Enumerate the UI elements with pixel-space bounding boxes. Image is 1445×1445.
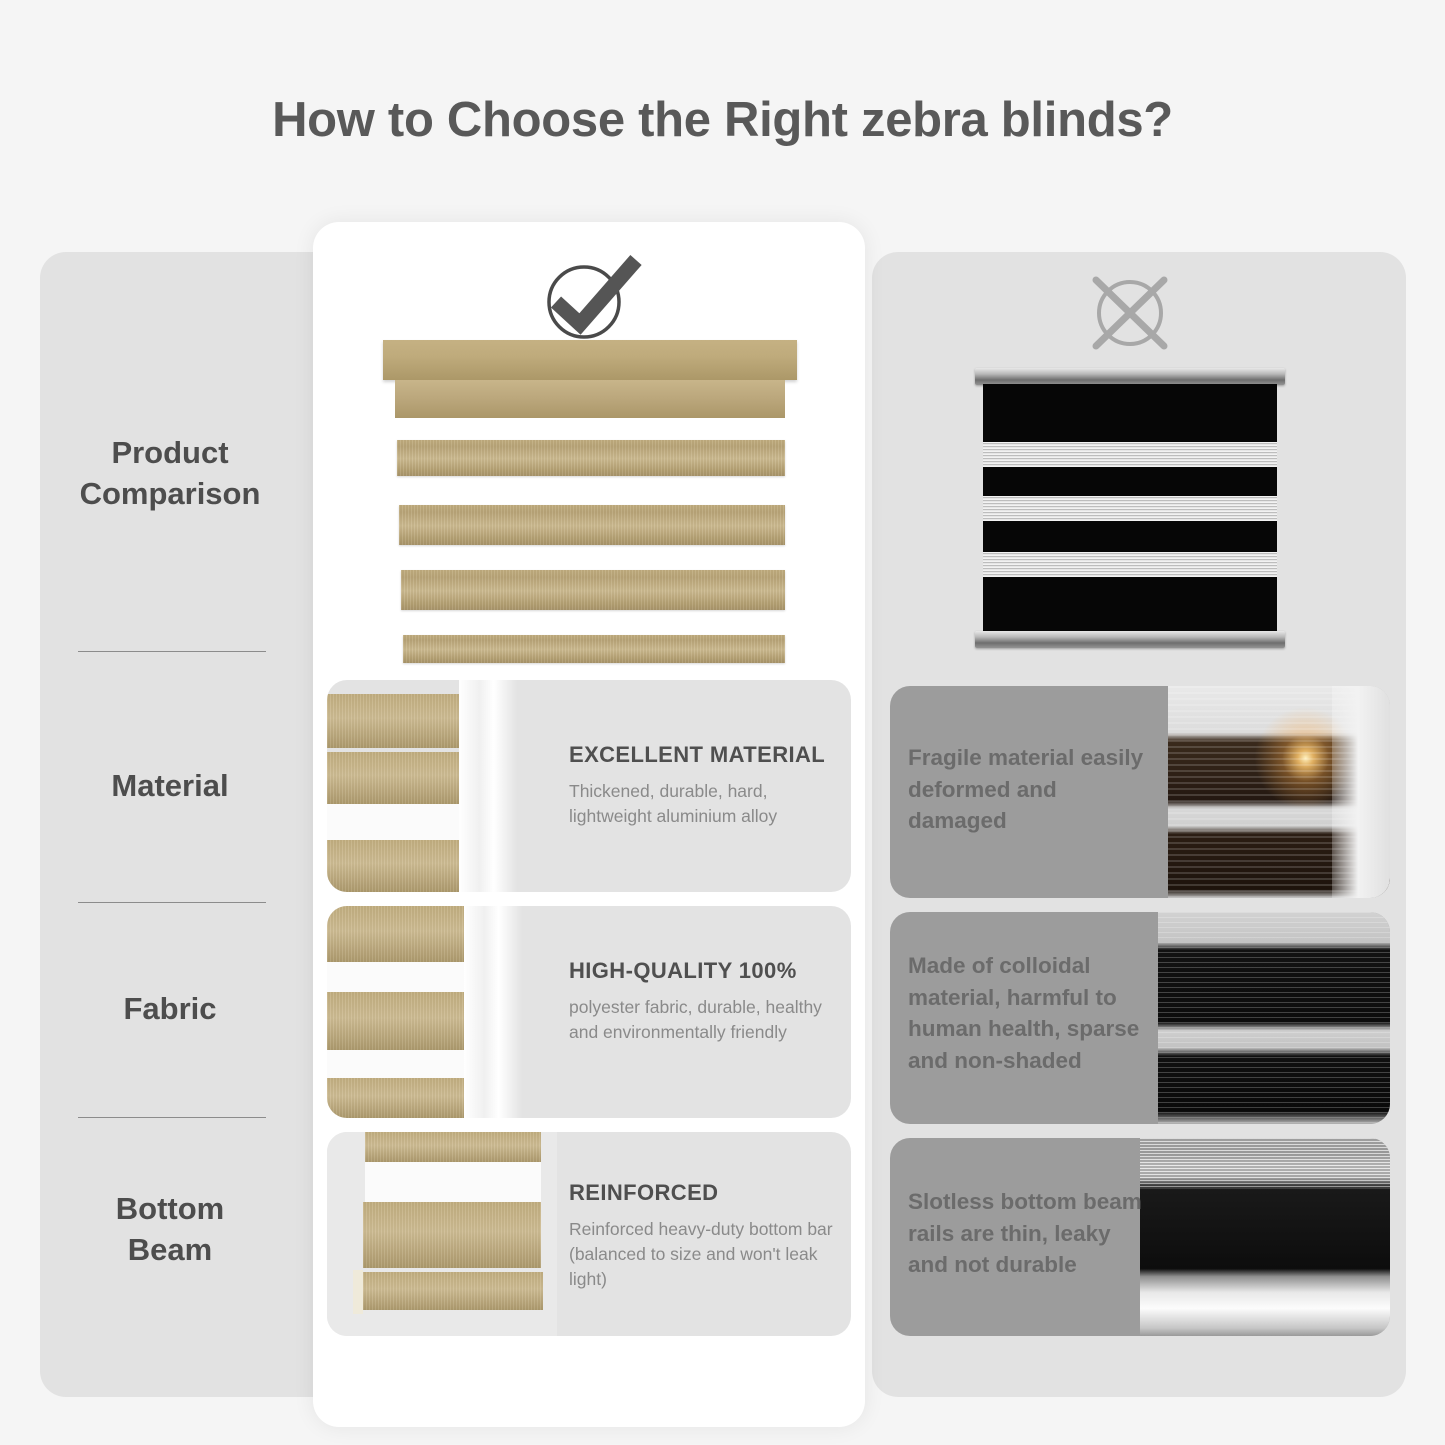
- feature-headline: Slotless bottom beam rails are thin, lea…: [908, 1186, 1156, 1281]
- photo-slat: [327, 752, 479, 804]
- photo-sheer-gap: [327, 804, 481, 840]
- check-circle-icon: [536, 252, 646, 344]
- row-label-line: Comparison: [55, 473, 285, 514]
- photo-slat: [365, 1132, 541, 1162]
- page-title: How to Choose the Right zebra blinds?: [0, 92, 1445, 148]
- feature-title: EXCELLENT MATERIAL: [569, 742, 831, 768]
- bad-feature-card-fabric: Made of colloidal material, harmful to h…: [890, 912, 1390, 1124]
- window-frame: [459, 680, 517, 892]
- photo-sheer-gap: [327, 1050, 485, 1078]
- row-label-bottom-beam: Bottom Beam: [55, 1188, 285, 1270]
- row-divider: [78, 902, 266, 903]
- good-feature-text-material: EXCELLENT MATERIAL Thickened, durable, h…: [569, 742, 831, 829]
- blind-fabric-body: [983, 384, 1277, 633]
- feature-headline: Fragile material easily deformed and dam…: [908, 742, 1158, 837]
- bad-feature-text-fabric: Made of colloidal material, harmful to h…: [908, 950, 1160, 1076]
- blind-headrail-body: [395, 380, 785, 418]
- good-feature-text-fabric: HIGH-QUALITY 100% polyester fabric, dura…: [569, 958, 841, 1045]
- photo-bottom-bar-endcap: [353, 1270, 363, 1314]
- bad-feature-card-bottom-beam: Slotless bottom beam rails are thin, lea…: [890, 1138, 1390, 1336]
- good-feature-card-fabric: HIGH-QUALITY 100% polyester fabric, dura…: [327, 906, 851, 1118]
- row-label-material: Material: [55, 765, 285, 806]
- photo-sheer-gap: [327, 962, 485, 992]
- blind-slat: [397, 440, 785, 476]
- beige-zebra-blind-closeup-photo: [327, 680, 517, 892]
- bad-feature-text-bottom-beam: Slotless bottom beam rails are thin, lea…: [908, 1186, 1156, 1281]
- blind-bottom-bar: [403, 635, 785, 663]
- beige-zebra-blind-fabric-photo: [327, 906, 522, 1118]
- feature-description: Reinforced heavy-duty bottom bar (balanc…: [569, 1217, 849, 1292]
- row-label-line: Product: [55, 432, 285, 473]
- blind-sheer-stripe: [983, 442, 1277, 467]
- photo-slat: [327, 992, 485, 1050]
- blind-bottom-rail: [975, 631, 1285, 648]
- photo-bottom-bar: [357, 1272, 543, 1310]
- window-frame: [464, 906, 522, 1118]
- feature-description: Thickened, durable, hard, lightweight al…: [569, 779, 831, 829]
- blind-sheer-stripe: [983, 552, 1277, 577]
- beige-bottom-beam-photo: [327, 1132, 557, 1336]
- beige-zebra-blind-product-image: [383, 340, 797, 670]
- black-blind-sparse-fabric-photo: [1158, 912, 1390, 1124]
- blind-slat: [399, 505, 785, 545]
- row-divider: [78, 651, 266, 652]
- good-feature-card-material: EXCELLENT MATERIAL Thickened, durable, h…: [327, 680, 851, 892]
- good-feature-card-bottom-beam: REINFORCED Reinforced heavy-duty bottom …: [327, 1132, 851, 1336]
- good-feature-text-bottom-beam: REINFORCED Reinforced heavy-duty bottom …: [569, 1180, 849, 1292]
- black-blind-slotless-beam-photo: [1140, 1138, 1390, 1336]
- blind-headrail-cap: [383, 340, 797, 380]
- row-label-product-comparison: Product Comparison: [55, 432, 285, 514]
- blind-sheer-stripe: [983, 496, 1277, 521]
- row-label-fabric: Fabric: [55, 988, 285, 1029]
- photo-sheer-gap: [365, 1162, 541, 1202]
- feature-title: REINFORCED: [569, 1180, 849, 1206]
- photo-slat: [327, 906, 485, 962]
- row-label-line: Bottom: [55, 1188, 285, 1229]
- sun-light-leak-photo: [1168, 686, 1390, 898]
- blind-headrail: [975, 368, 1285, 385]
- feature-description: polyester fabric, durable, healthy and e…: [569, 995, 841, 1045]
- row-label-line: Beam: [55, 1229, 285, 1270]
- photo-slat: [327, 694, 477, 748]
- cross-circle-icon: [1084, 272, 1176, 354]
- blind-slat: [401, 570, 785, 610]
- bad-feature-card-material: Fragile material easily deformed and dam…: [890, 686, 1390, 898]
- photo-slat: [363, 1202, 541, 1268]
- row-divider: [78, 1117, 266, 1118]
- bad-feature-text-material: Fragile material easily deformed and dam…: [908, 742, 1158, 837]
- black-zebra-blind-product-image: [975, 368, 1285, 648]
- feature-title: HIGH-QUALITY 100%: [569, 958, 841, 984]
- photo-slat: [327, 1078, 485, 1118]
- feature-headline: Made of colloidal material, harmful to h…: [908, 950, 1160, 1076]
